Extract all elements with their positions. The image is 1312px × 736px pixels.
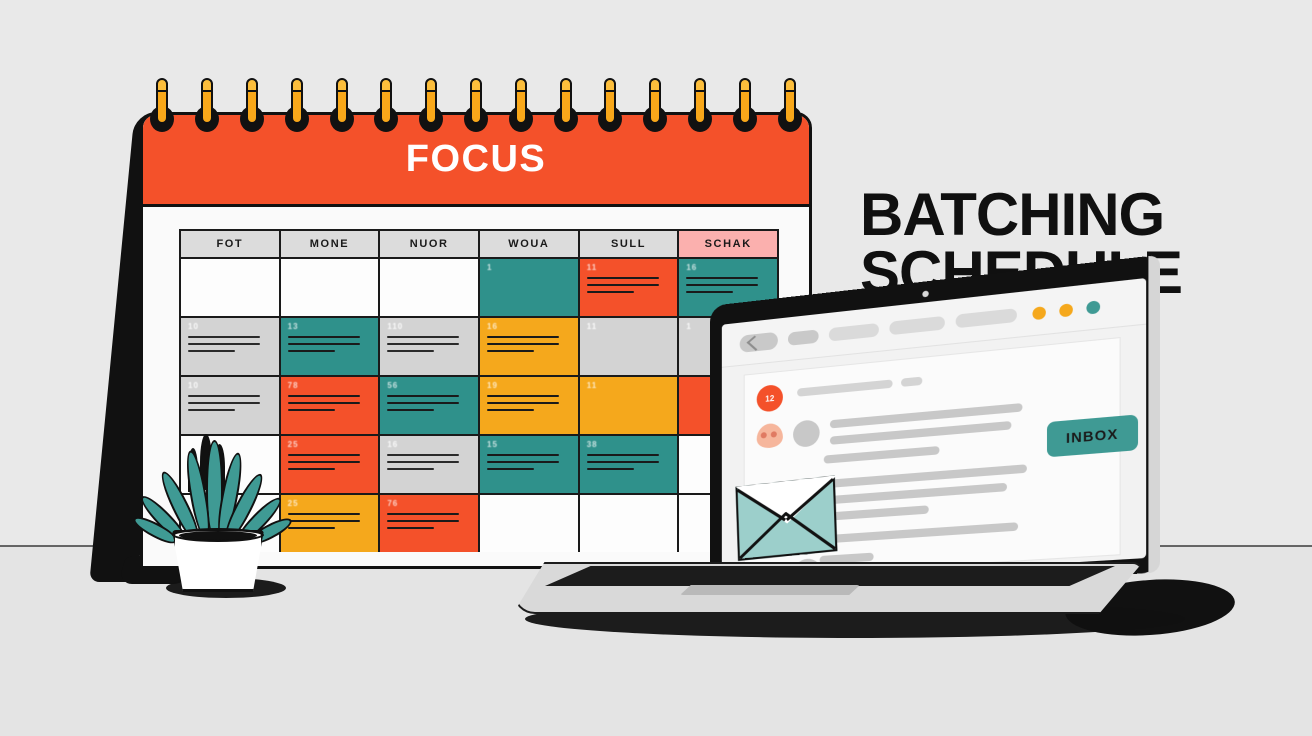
day-number: 25 — [288, 441, 372, 449]
spiral-wire-top — [560, 78, 572, 92]
spiral-wire-top — [515, 78, 527, 92]
heart-icon — [757, 422, 783, 449]
event-line — [387, 468, 434, 470]
event-line — [387, 520, 459, 522]
calendar-day-cell[interactable]: 10 — [181, 318, 281, 375]
event-line — [387, 409, 434, 411]
inbox-panel: 12 INBOX — [744, 337, 1121, 578]
spiral-ring — [461, 78, 491, 136]
laptop-lid-edge — [1148, 255, 1160, 573]
event-line — [387, 513, 459, 515]
calendar-day-cell[interactable] — [281, 259, 381, 316]
event-line — [288, 520, 360, 522]
event-line — [387, 343, 459, 345]
calendar-day-cell[interactable]: 10 — [181, 377, 281, 434]
envelope-icon — [735, 475, 837, 560]
day-number: 16 — [387, 441, 471, 449]
webcam-icon — [922, 290, 928, 297]
event-line — [387, 350, 434, 352]
toolbar-pill[interactable] — [889, 316, 944, 335]
event-line — [387, 402, 459, 404]
day-number: 1 — [487, 264, 571, 272]
event-line — [288, 350, 335, 352]
event-line — [387, 461, 459, 463]
event-line — [387, 527, 434, 529]
spiral-wire-top — [694, 78, 706, 92]
list-item — [901, 377, 922, 387]
calendar-day-cell[interactable]: 25 — [281, 495, 381, 552]
spiral-ring — [147, 78, 177, 136]
calendar-day-cell[interactable]: 110 — [380, 318, 480, 375]
event-line — [188, 402, 260, 404]
laptop-hinge — [545, 566, 1115, 586]
day-number: 78 — [288, 382, 372, 390]
notification-badge: 12 — [757, 384, 783, 413]
calendar-day-cell[interactable]: 78 — [281, 377, 381, 434]
calendar-day-header-4: SULL — [580, 231, 680, 257]
laptop-trackpad[interactable] — [680, 585, 860, 595]
calendar-header-label: FOCUS — [406, 138, 547, 181]
event-line — [288, 513, 360, 515]
event-line — [188, 343, 260, 345]
calendar-day-cell[interactable] — [380, 259, 480, 316]
event-line — [387, 336, 459, 338]
day-number: 110 — [387, 323, 471, 331]
spiral-wire-top — [291, 78, 303, 92]
event-line — [387, 395, 459, 397]
status-dot — [1032, 306, 1045, 320]
event-line — [288, 402, 360, 404]
spiral-wire-top — [739, 78, 751, 92]
day-number: 10 — [188, 323, 272, 331]
spiral-ring — [327, 78, 357, 136]
day-number: 13 — [288, 323, 372, 331]
inbox-badge-label[interactable]: INBOX — [1047, 414, 1138, 457]
calendar-day-header-2: NUOR — [380, 231, 480, 257]
envelope-fold — [739, 511, 787, 558]
potted-plant — [148, 430, 288, 590]
spiral-wire-top — [336, 78, 348, 92]
spiral-wire-top — [784, 78, 796, 92]
event-line — [188, 409, 235, 411]
event-line — [288, 343, 360, 345]
calendar-day-cell[interactable] — [181, 259, 281, 316]
list-item — [820, 522, 1018, 544]
day-number: 56 — [387, 382, 471, 390]
event-line — [587, 291, 634, 293]
calendar-day-header-1: MONE — [281, 231, 381, 257]
spiral-ring — [192, 78, 222, 136]
event-line — [288, 409, 335, 411]
plant-soil — [179, 531, 257, 540]
calendar-day-cell[interactable]: 13 — [281, 318, 381, 375]
event-line — [686, 277, 758, 279]
spiral-ring — [506, 78, 536, 136]
event-line — [587, 284, 659, 286]
event-line — [686, 284, 758, 286]
status-dot — [1086, 300, 1100, 314]
calendar-day-header-5: SCHAK — [679, 231, 777, 257]
event-line — [188, 395, 260, 397]
event-line — [288, 468, 335, 470]
calendar-day-cell[interactable]: 25 — [281, 436, 381, 493]
envelope-fold — [784, 511, 836, 549]
event-line — [686, 291, 733, 293]
title-line-1: BATCHING — [860, 181, 1164, 248]
spiral-ring — [640, 78, 670, 136]
spiral-ring — [416, 78, 446, 136]
spiral-wire-top — [649, 78, 661, 92]
spiral-ring — [371, 78, 401, 136]
spiral-ring — [282, 78, 312, 136]
laptop-lid: 12 INBOX — [710, 255, 1160, 598]
spiral-wire-top — [156, 78, 168, 92]
spiral-ring — [775, 78, 805, 136]
list-item — [824, 446, 940, 464]
calendar-day-cell[interactable]: 76 — [380, 495, 480, 552]
toolbar-pill[interactable] — [829, 323, 879, 342]
event-line — [587, 277, 659, 279]
spiral-ring — [595, 78, 625, 136]
event-line — [288, 454, 360, 456]
spiral-ring — [551, 78, 581, 136]
spiral-wire-top — [380, 78, 392, 92]
calendar-day-header-row: FOTMONENUORWOUASULLSCHAK — [181, 231, 777, 259]
event-line — [288, 336, 360, 338]
event-line — [188, 336, 260, 338]
toolbar-pill[interactable] — [956, 308, 1017, 328]
illustration-scene: BATCHING SCHEDULE FOCUS FOTMONENUORWOUAS… — [0, 0, 1312, 736]
day-number: 10 — [188, 382, 272, 390]
event-line — [288, 461, 360, 463]
calendar-day-header-3: WOUA — [480, 231, 580, 257]
calendar-day-cell[interactable]: 16 — [380, 436, 480, 493]
day-number: 25 — [288, 500, 372, 508]
event-line — [188, 350, 235, 352]
spiral-wire-top — [470, 78, 482, 92]
avatar — [793, 419, 820, 448]
back-arrow-icon[interactable] — [740, 332, 778, 353]
list-item — [822, 505, 929, 521]
day-number: 16 — [686, 264, 770, 272]
event-line — [288, 395, 360, 397]
calendar-day-header-0: FOT — [181, 231, 281, 257]
calendar-spiral-binding — [140, 78, 812, 138]
laptop-screen: 12 INBOX — [722, 278, 1146, 583]
event-line — [288, 527, 335, 529]
spiral-ring — [685, 78, 715, 136]
status-dot — [1059, 303, 1073, 317]
day-number: 76 — [387, 500, 471, 508]
spiral-wire-top — [201, 78, 213, 92]
list-item — [797, 379, 892, 396]
spiral-wire-top — [425, 78, 437, 92]
calendar-day-cell[interactable]: 56 — [380, 377, 480, 434]
spiral-wire-top — [604, 78, 616, 92]
event-line — [387, 454, 459, 456]
spiral-ring — [730, 78, 760, 136]
toolbar-pill[interactable] — [788, 329, 819, 345]
day-number: 11 — [587, 264, 671, 272]
laptop: 12 INBOX — [505, 300, 1155, 640]
spiral-wire-top — [246, 78, 258, 92]
spiral-ring — [237, 78, 267, 136]
